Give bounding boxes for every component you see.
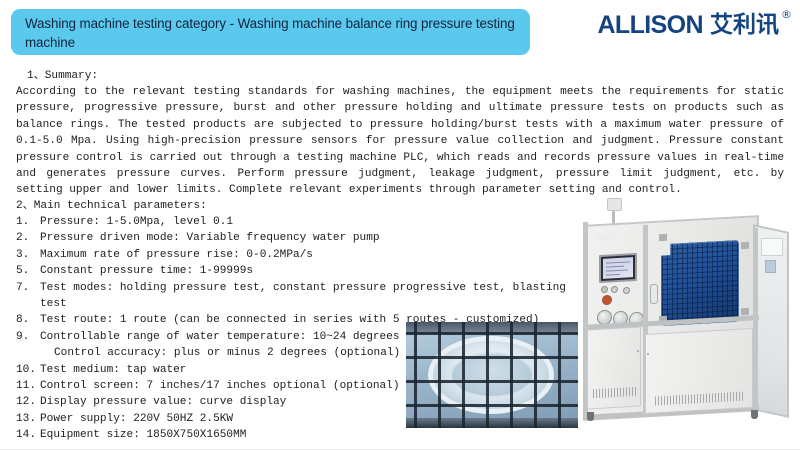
page-title: Washing machine testing category - Washi… bbox=[25, 15, 516, 52]
cabinet-foot bbox=[587, 412, 594, 421]
cage-bar-vertical bbox=[438, 322, 441, 428]
parameter-text: Test medium: tap water bbox=[40, 362, 186, 378]
parameter-row: 2.Pressure driven mode: Variable frequen… bbox=[16, 230, 576, 246]
parameter-row: 14.Equipment size: 1850X750X1650MM bbox=[16, 427, 576, 443]
cage-bar-vertical bbox=[510, 322, 513, 428]
parameter-number: 11. bbox=[16, 378, 40, 394]
cage-bar-vertical bbox=[414, 322, 417, 428]
parameter-number: 7. bbox=[16, 280, 40, 296]
parameter-text: Constant pressure time: 1-99999s bbox=[40, 263, 253, 279]
parameter-text: Control accuracy: plus or minus 2 degree… bbox=[54, 345, 400, 361]
frame-post bbox=[753, 228, 758, 416]
cage-bar-horizontal bbox=[406, 404, 578, 407]
cage-bar-vertical bbox=[534, 322, 537, 428]
parameter-row: 3.Maximum rate of pressure rise: 0-0.2MP… bbox=[16, 247, 576, 263]
parameter-number: 14. bbox=[16, 427, 40, 443]
cage-bar-horizontal bbox=[406, 356, 578, 359]
parameter-text: Test modes: holding pressure test, const… bbox=[40, 280, 576, 313]
hmi-screen-line bbox=[606, 269, 628, 271]
parameter-number: 2. bbox=[16, 230, 40, 246]
cabinet-foot bbox=[751, 410, 758, 419]
parameter-row: 5.Constant pressure time: 1-99999s bbox=[16, 263, 576, 279]
parameter-text: Control screen: 7 inches/17 inches optio… bbox=[40, 378, 400, 394]
balance-ring-inset-photo bbox=[406, 322, 578, 428]
title-banner: Washing machine testing category - Washi… bbox=[11, 9, 530, 55]
page-header: Washing machine testing category - Washi… bbox=[0, 0, 800, 62]
parameters-heading: 2、Main technical parameters: bbox=[16, 198, 207, 214]
hmi-screen-line bbox=[606, 274, 620, 276]
door-handle bbox=[650, 284, 658, 304]
side-control-box bbox=[765, 260, 776, 273]
parameter-text: Equipment size: 1850X750X1650MM bbox=[40, 427, 246, 443]
cage-bar-vertical bbox=[462, 322, 465, 428]
cage-bar-horizontal bbox=[406, 332, 578, 335]
parameter-number: 3. bbox=[16, 247, 40, 263]
door-hinge bbox=[659, 234, 667, 241]
summary-paragraph: According to the relevant testing standa… bbox=[16, 84, 784, 199]
parameter-number: 13. bbox=[16, 411, 40, 427]
parameter-number: 1. bbox=[16, 214, 40, 230]
parameter-text: Pressure: 1-5.0Mpa, level 0.1 bbox=[40, 214, 233, 230]
parameter-text: Power supply: 220V 50HZ 2.5KW bbox=[40, 411, 233, 427]
hmi-touchscreen bbox=[599, 253, 637, 283]
parameter-text: Display pressure value: curve display bbox=[40, 394, 286, 410]
parameter-text: Maximum rate of pressure rise: 0-0.2MPa/… bbox=[40, 247, 313, 263]
door-hinge bbox=[741, 308, 749, 315]
chamber-bottom-shadow bbox=[406, 418, 578, 428]
side-label-plate bbox=[761, 238, 783, 256]
cage-bar-vertical bbox=[486, 322, 489, 428]
vent-pipe-cap bbox=[607, 198, 622, 211]
cabinet-brand-tag bbox=[597, 234, 614, 242]
parameter-number: 10. bbox=[16, 362, 40, 378]
registered-trademark-icon: ® bbox=[781, 8, 792, 21]
summary-heading: 1、Summary: bbox=[27, 68, 98, 84]
parameter-text: Controllable range of water temperature:… bbox=[40, 329, 400, 345]
parameter-text: Pressure driven mode: Variable frequency… bbox=[40, 230, 380, 246]
hmi-screen-surface bbox=[603, 257, 633, 279]
machine-photo bbox=[575, 198, 793, 426]
hmi-screen-line bbox=[606, 261, 630, 263]
hmi-screen-line bbox=[606, 266, 624, 268]
company-logo: ALLISON 艾利讯 ® bbox=[597, 12, 792, 44]
parameter-row: 7.Test modes: holding pressure test, con… bbox=[16, 280, 576, 313]
logo-latin-text: ALLISON bbox=[597, 12, 703, 38]
cage-bar-vertical bbox=[558, 322, 561, 428]
parameter-number: 12. bbox=[16, 394, 40, 410]
blue-mesh-window bbox=[661, 240, 739, 326]
parameter-row: 1.Pressure: 1-5.0Mpa, level 0.1 bbox=[16, 214, 576, 230]
parameter-number: 8. bbox=[16, 312, 40, 328]
parameter-number: 5. bbox=[16, 263, 40, 279]
cage-bar-horizontal bbox=[406, 380, 578, 383]
door-hinge bbox=[741, 242, 749, 249]
logo-chinese-text: 艾利讯 bbox=[710, 12, 779, 39]
parameter-number: 9. bbox=[16, 329, 40, 345]
